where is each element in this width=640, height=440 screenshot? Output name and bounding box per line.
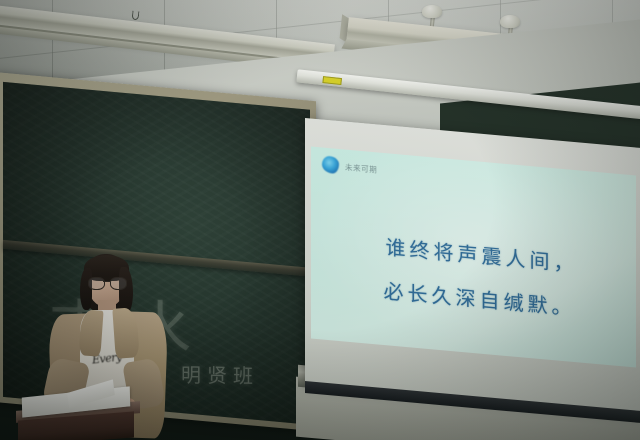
roller-warning-label bbox=[322, 76, 342, 85]
projection-screen: 未来可期 谁终将声震人间， 必长久深自缄默。 bbox=[305, 118, 640, 412]
hair-left bbox=[80, 268, 92, 310]
hair-right bbox=[119, 267, 133, 313]
classroom-photo: 志水 明贤班 未来可期 谁终将声震人间， 必长久深自缄默。 bbox=[0, 0, 640, 440]
glasses-lens-left bbox=[88, 277, 105, 290]
podium bbox=[16, 398, 140, 440]
glasses-lens-right bbox=[110, 277, 127, 290]
glasses-icon bbox=[88, 277, 126, 288]
projected-slide: 未来可期 谁终将声震人间， 必长久深自缄默。 bbox=[311, 147, 636, 368]
glasses-bridge bbox=[103, 281, 110, 282]
